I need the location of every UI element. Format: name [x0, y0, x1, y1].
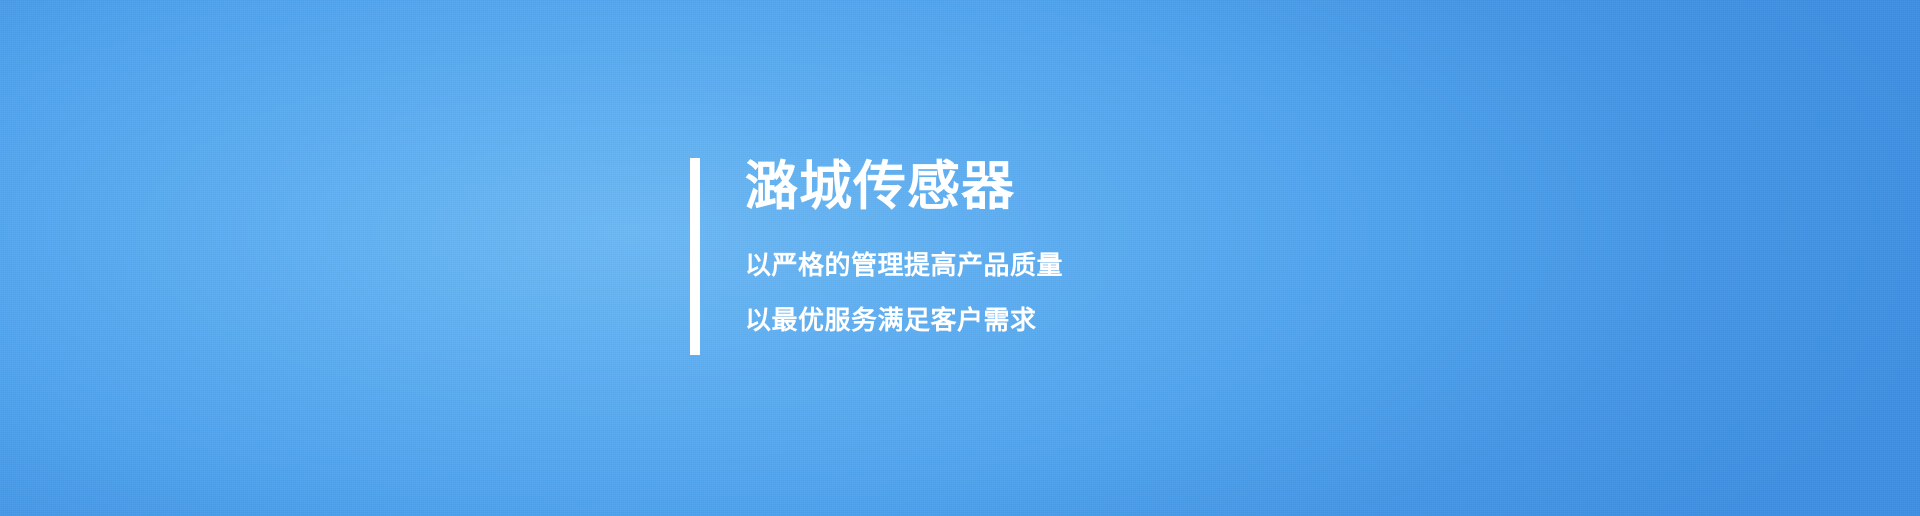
- banner-text-block: 潞城传感器 以严格的管理提高产品质量 以最优服务满足客户需求: [745, 158, 1063, 334]
- banner-content: 潞城传感器 以严格的管理提高产品质量 以最优服务满足客户需求: [690, 158, 1063, 355]
- accent-bar: [690, 158, 700, 355]
- hero-banner: 潞城传感器 以严格的管理提高产品质量 以最优服务满足客户需求: [0, 0, 1920, 516]
- banner-headline: 潞城传感器: [745, 158, 1063, 213]
- banner-tagline-2: 以最优服务满足客户需求: [745, 308, 1063, 334]
- banner-tagline-1: 以严格的管理提高产品质量: [745, 253, 1063, 279]
